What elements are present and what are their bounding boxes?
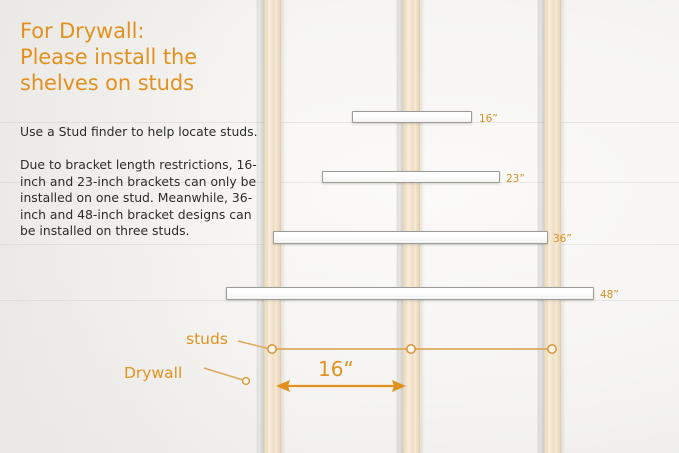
page-title: For Drywall: Please install the shelves … bbox=[20, 18, 270, 96]
bracket-16 bbox=[352, 111, 472, 123]
bracket-16-label: 16” bbox=[479, 113, 498, 125]
stud-right-highlight bbox=[561, 0, 566, 453]
bracket-48 bbox=[226, 287, 594, 300]
bracket-48-label: 48” bbox=[600, 289, 619, 301]
stud-center-grain bbox=[403, 0, 420, 453]
stud-right bbox=[544, 0, 561, 453]
stud-center-shadow bbox=[396, 0, 403, 453]
bracket-23-label: 23” bbox=[506, 173, 525, 185]
title-line-1: For Drywall: bbox=[20, 18, 270, 44]
stud-right-shadow bbox=[537, 0, 544, 453]
studs-label: studs bbox=[186, 330, 228, 348]
stud-left-highlight bbox=[281, 0, 286, 453]
panel-seam-lower bbox=[0, 244, 679, 245]
panel-seam-bottom bbox=[0, 300, 679, 301]
bracket-23 bbox=[322, 171, 500, 183]
panel-seam-upper bbox=[0, 122, 679, 123]
drywall-label: Drywall bbox=[124, 364, 182, 382]
body-paragraph-2: Due to bracket length restrictions, 16-i… bbox=[20, 157, 270, 240]
diagram-canvas: For Drywall: Please install the shelves … bbox=[0, 0, 679, 453]
stud-right-grain bbox=[544, 0, 561, 453]
bracket-36 bbox=[273, 231, 548, 244]
body-paragraph-1: Use a Stud finder to help locate studs. bbox=[20, 124, 270, 141]
title-line-3: shelves on studs bbox=[20, 70, 270, 96]
dimension-16-label: 16“ bbox=[318, 357, 354, 381]
stud-center bbox=[403, 0, 420, 453]
stud-center-highlight bbox=[420, 0, 425, 453]
title-line-2: Please install the bbox=[20, 44, 270, 70]
bracket-36-label: 36” bbox=[553, 233, 572, 245]
